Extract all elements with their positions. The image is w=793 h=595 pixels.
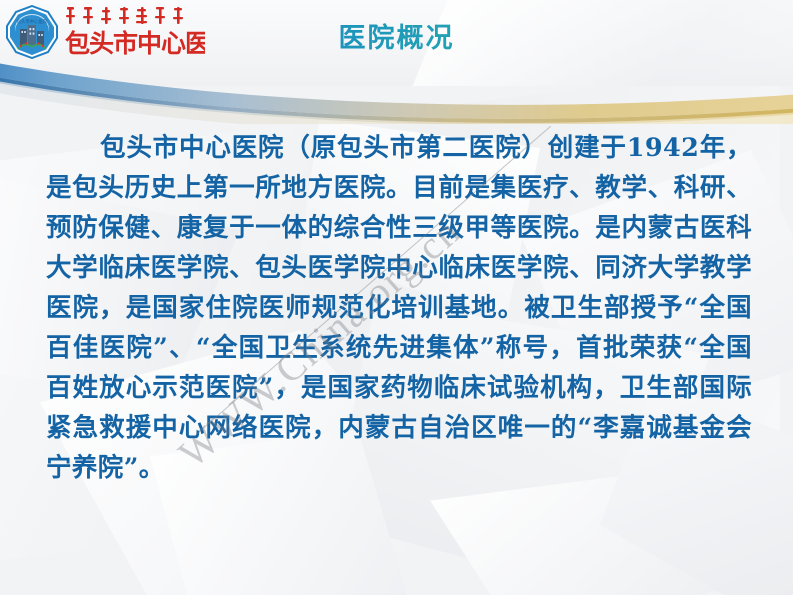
body-paragraph: 包头市中心医院（原包头市第二医院）创建于1942年，是包头历史上第一所地方医院。… <box>46 128 752 488</box>
page-title: 医院概况 <box>0 16 793 55</box>
presentation-slide: 包头市中心医院 <box>0 0 793 595</box>
